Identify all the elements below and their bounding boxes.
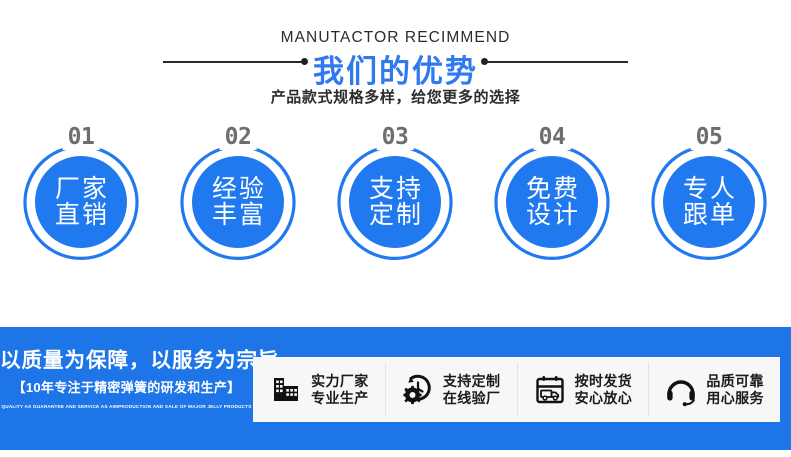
feature-line2: 安心放心 [575, 390, 633, 407]
feature-label-delivery: 按时发货 安心放心 [575, 373, 633, 406]
advantage-item-03[interactable]: 支持 定制 03 [316, 124, 474, 306]
advantage-item-04[interactable]: 免费 设计 04 [473, 124, 631, 306]
feature-line2: 专业生产 [311, 390, 369, 407]
advantage-ring-01: 厂家 直销 [21, 142, 141, 262]
header-rule-right [483, 61, 628, 63]
advantage-disc-03: 支持 定制 [349, 156, 441, 248]
advantage-label-line2: 设计 [524, 202, 580, 229]
advantage-ring-02: 经验 丰富 [178, 142, 298, 262]
feature-line1: 按时发货 [575, 373, 633, 390]
banner-title: 以质量为保障，以服务为宗旨 [0, 351, 253, 372]
advantage-number-04: 04 [534, 124, 571, 150]
advantage-label-line2: 跟单 [681, 202, 737, 229]
header-subtitle: 产品款式规格多样，给您更多的选择 [0, 86, 791, 107]
page-header: MANUTACTOR RECIMMEND 我们的优势 产品款式规格多样，给您更多… [0, 0, 791, 118]
calendar-truck-icon [533, 373, 567, 407]
advantage-item-05[interactable]: 专人 跟单 05 [630, 124, 788, 306]
bottom-banner: 以质量为保障，以服务为宗旨 【10年专注于精密弹簧的研发和生产】 QUALITY… [0, 327, 791, 450]
banner-english-text: QUALITY AS GUARANTEE AND SERVICE AS AIMP… [0, 404, 256, 409]
feature-item-custom[interactable]: 支持定制 在线验厂 [385, 357, 517, 422]
advantage-item-01[interactable]: 厂家 直销 01 [2, 124, 160, 306]
advantage-item-02[interactable]: 经验 丰富 02 [159, 124, 317, 306]
headset-icon [664, 373, 698, 407]
advantage-label-line1: 经验 [210, 176, 266, 203]
advantage-label-line2: 直销 [53, 202, 109, 229]
header-english-title: MANUTACTOR RECIMMEND [0, 29, 791, 47]
factory-building-icon [269, 373, 303, 407]
feature-line2: 在线验厂 [443, 390, 501, 407]
advantage-label-line2: 丰富 [210, 202, 266, 229]
advantage-disc-01: 厂家 直销 [35, 156, 127, 248]
banner-subtitle: 【10年专注于精密弹簧的研发和生产】 [0, 381, 253, 394]
page-title: 我们的优势 [0, 46, 791, 91]
gear-clock-icon [401, 373, 435, 407]
advantage-label-line2: 定制 [367, 202, 423, 229]
advantage-ring-03: 支持 定制 [335, 142, 455, 262]
advantage-label-line1: 专人 [681, 176, 737, 203]
feature-item-delivery[interactable]: 按时发货 安心放心 [517, 357, 649, 422]
feature-item-service[interactable]: 品质可靠 用心服务 [648, 357, 780, 422]
feature-item-factory[interactable]: 实力厂家 专业生产 [253, 357, 385, 422]
advantage-disc-05: 专人 跟单 [663, 156, 755, 248]
advantage-number-02: 02 [220, 124, 257, 150]
advantages-row: 厂家 直销 01 经验 丰富 02 支持 定制 03 [0, 118, 791, 313]
advantage-disc-04: 免费 设计 [506, 156, 598, 248]
banner-slogan-block: 以质量为保障，以服务为宗旨 【10年专注于精密弹簧的研发和生产】 QUALITY… [0, 345, 253, 435]
advantage-label-line1: 支持 [367, 176, 423, 203]
advantage-label-line1: 厂家 [53, 176, 109, 203]
feature-label-factory: 实力厂家 专业生产 [311, 373, 369, 406]
advantage-ring-05: 专人 跟单 [649, 142, 769, 262]
advantage-number-01: 01 [63, 124, 100, 150]
feature-label-custom: 支持定制 在线验厂 [443, 373, 501, 406]
advantage-number-03: 03 [377, 124, 414, 150]
advantage-ring-04: 免费 设计 [492, 142, 612, 262]
feature-label-service: 品质可靠 用心服务 [706, 373, 764, 406]
feature-line1: 支持定制 [443, 373, 501, 390]
advantage-label-line1: 免费 [524, 176, 580, 203]
feature-line2: 用心服务 [706, 390, 764, 407]
feature-line1: 品质可靠 [706, 373, 764, 390]
advantage-disc-02: 经验 丰富 [192, 156, 284, 248]
advantage-number-05: 05 [691, 124, 728, 150]
feature-line1: 实力厂家 [311, 373, 369, 390]
feature-panel: 实力厂家 专业生产 [253, 357, 780, 422]
